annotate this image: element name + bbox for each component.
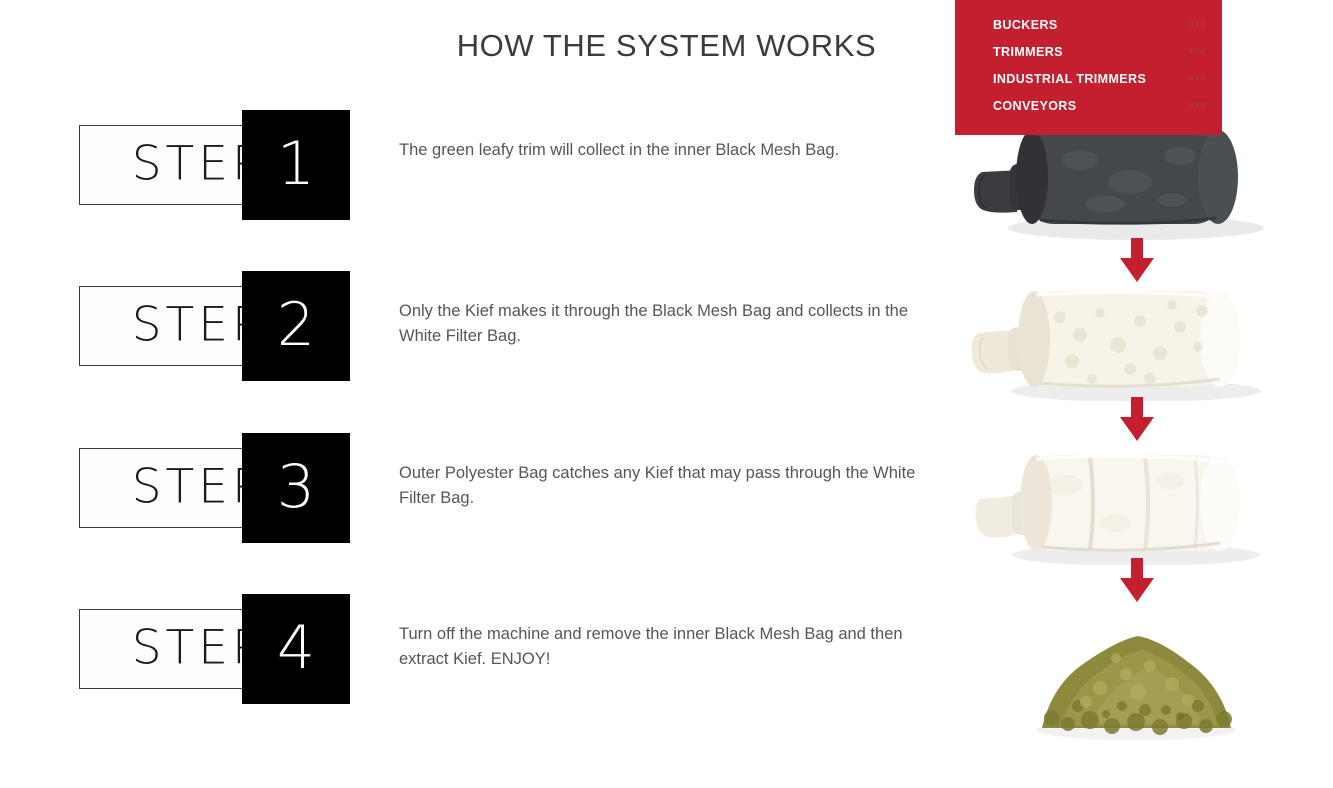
product-flow-column: BUCKERS TRIMMERS INDUSTRIAL TRIMMERS CON… [940, 0, 1333, 788]
step-row: STEP 2 Only the Kief makes it through th… [0, 271, 960, 433]
steps-column: STEP 1 The green leafy trim will collect… [0, 0, 960, 788]
step-number-box: 2 [242, 271, 350, 381]
nav-item-industrial-trimmers[interactable]: INDUSTRIAL TRIMMERS [993, 72, 1205, 99]
step-number-label: 1 [242, 134, 350, 194]
step-description: Turn off the machine and remove the inne… [399, 622, 919, 672]
step-badge-2: STEP 2 [79, 271, 354, 391]
step-description: Only the Kief makes it through the Black… [399, 299, 919, 349]
ellipsis-icon [1189, 76, 1205, 80]
nav-item-trimmers[interactable]: TRIMMERS [993, 45, 1205, 72]
nav-item-label: INDUSTRIAL TRIMMERS [993, 72, 1146, 86]
ellipsis-icon [1189, 103, 1205, 107]
down-arrow-icon [1110, 238, 1164, 286]
step-row: STEP 3 Outer Polyester Bag catches any K… [0, 433, 960, 595]
product-image-white-filter-bag [940, 283, 1333, 401]
category-nav-panel: BUCKERS TRIMMERS INDUSTRIAL TRIMMERS CON… [955, 0, 1222, 135]
product-image-kief-powder-pile [940, 618, 1333, 743]
nav-item-buckers[interactable]: BUCKERS [993, 18, 1205, 45]
product-image-outer-polyester-bag [940, 445, 1333, 565]
step-description: Outer Polyester Bag catches any Kief tha… [399, 461, 919, 511]
down-arrow-icon [1110, 397, 1164, 445]
nav-item-label: TRIMMERS [993, 45, 1063, 59]
ellipsis-icon [1189, 22, 1205, 26]
step-number-box: 1 [242, 110, 350, 220]
nav-item-label: BUCKERS [993, 18, 1058, 32]
product-image-black-mesh-bag [940, 120, 1333, 240]
step-number-label: 3 [242, 457, 350, 517]
step-number-label: 2 [242, 295, 350, 355]
step-description: The green leafy trim will collect in the… [399, 138, 919, 163]
step-badge-3: STEP 3 [79, 433, 354, 553]
nav-item-conveyors[interactable]: CONVEYORS [993, 99, 1205, 126]
step-row: STEP 1 The green leafy trim will collect… [0, 110, 960, 272]
step-row: STEP 4 Turn off the machine and remove t… [0, 594, 960, 756]
ellipsis-icon [1189, 49, 1205, 53]
step-number-box: 3 [242, 433, 350, 543]
step-badge-1: STEP 1 [79, 110, 354, 230]
nav-item-label: CONVEYORS [993, 99, 1076, 113]
step-badge-4: STEP 4 [79, 594, 354, 714]
step-number-box: 4 [242, 594, 350, 704]
step-number-label: 4 [242, 618, 350, 678]
down-arrow-icon [1110, 558, 1164, 606]
